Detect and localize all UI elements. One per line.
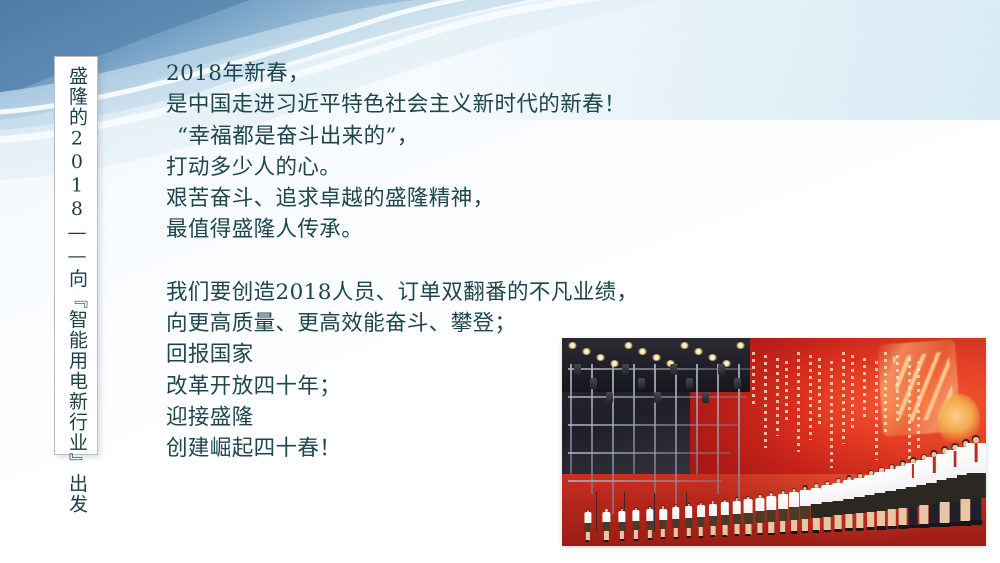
scaffold-beam bbox=[568, 480, 722, 482]
backdrop-verse-column bbox=[764, 355, 767, 448]
event-photo bbox=[562, 338, 986, 546]
choir-shoes bbox=[647, 538, 652, 540]
stage-light-fixture bbox=[606, 392, 613, 403]
choir-member bbox=[721, 499, 729, 537]
vertical-title-plaque: 盛隆的2018——向『智能用电新行业』出发 bbox=[54, 56, 98, 455]
choir-shoes bbox=[780, 532, 786, 534]
stage-light-fixture bbox=[654, 392, 661, 403]
choir-skirt bbox=[709, 516, 717, 526]
choir-shoes bbox=[824, 530, 832, 533]
choir-member bbox=[744, 496, 753, 536]
choir-shoes bbox=[791, 531, 798, 534]
body-line: 艰苦奋斗、追求卓越的盛隆精神， bbox=[166, 183, 726, 214]
body-line: 是中国走进习近平特色社会主义新时代的新春！ bbox=[166, 89, 726, 120]
choir-white-shirt bbox=[789, 492, 799, 507]
choir-skirt bbox=[721, 515, 729, 525]
choir-member bbox=[811, 483, 822, 533]
choir-shoes bbox=[969, 520, 982, 525]
choir-trouser-legs bbox=[970, 498, 982, 523]
choir-white-shirt bbox=[732, 501, 741, 514]
choir-white-shirt bbox=[822, 485, 833, 502]
choir-shoes bbox=[722, 535, 727, 537]
choir-skirt bbox=[756, 511, 765, 522]
choir-skirt bbox=[778, 509, 787, 521]
choir-shoes bbox=[673, 537, 678, 539]
microphone-stand bbox=[654, 492, 655, 532]
choir-member bbox=[778, 490, 788, 535]
ceiling-lamp bbox=[652, 354, 661, 361]
choir-member bbox=[767, 492, 776, 535]
choir-white-shirt bbox=[584, 512, 591, 523]
choir-legs bbox=[813, 518, 819, 532]
choir-necktie bbox=[912, 464, 914, 478]
presentation-slide: 盛隆的2018——向『智能用电新行业』出发 2018年新春， 是中国走进习近平特… bbox=[0, 0, 1000, 563]
choir-white-shirt bbox=[685, 506, 693, 518]
choir-shoes bbox=[619, 539, 624, 541]
choir-skirt bbox=[672, 519, 679, 528]
ceiling-lamp bbox=[638, 348, 647, 355]
choir-skirt bbox=[646, 521, 653, 530]
scaffold-pole bbox=[696, 364, 698, 474]
choir-shoes bbox=[834, 529, 842, 532]
choir-legs bbox=[824, 517, 831, 531]
choir-skirt bbox=[811, 504, 821, 518]
choir-member bbox=[618, 508, 625, 541]
choir-skirt bbox=[633, 521, 640, 530]
scaffold-pole bbox=[612, 364, 614, 514]
scaffold-pole bbox=[675, 364, 677, 514]
choir-white-shirt bbox=[778, 494, 788, 509]
ceiling-lamp bbox=[694, 348, 703, 355]
scaffold-beam bbox=[568, 368, 754, 370]
choir-white-shirt bbox=[633, 510, 640, 521]
body-line: 2018年新春， bbox=[166, 58, 726, 89]
paragraph-1: 2018年新春， 是中国走进习近平特色社会主义新时代的新春！ “幸福都是奋斗出来… bbox=[166, 58, 726, 246]
choir-white-shirt bbox=[659, 509, 666, 520]
backdrop-verse-column bbox=[818, 358, 821, 428]
stage-light-fixture bbox=[638, 378, 645, 389]
scaffold-pole bbox=[633, 364, 635, 474]
choir-skirt bbox=[603, 522, 610, 531]
body-line: “幸福都是奋斗出来的”， bbox=[166, 121, 726, 152]
stage-light-fixture bbox=[670, 364, 677, 375]
choir-white-shirt bbox=[744, 499, 753, 512]
choir-skirt bbox=[744, 513, 752, 524]
choir-white-shirt bbox=[755, 498, 764, 512]
choir-trousers bbox=[967, 473, 986, 498]
choir-shoes bbox=[634, 539, 639, 541]
choir-white-shirt bbox=[721, 502, 729, 515]
choir-shoes bbox=[604, 540, 609, 542]
stage-light-fixture bbox=[718, 364, 725, 375]
choir-shoes bbox=[698, 536, 703, 538]
ceiling-lamp bbox=[568, 342, 577, 349]
scaffold-pole bbox=[717, 364, 719, 494]
choir-skirt bbox=[733, 514, 741, 525]
choir-skirt bbox=[800, 506, 810, 519]
choir-member bbox=[659, 505, 666, 539]
choir-white-shirt bbox=[811, 488, 822, 505]
backdrop-verse-column bbox=[875, 361, 878, 460]
scaffold-beam bbox=[568, 424, 738, 426]
choir-shoes bbox=[686, 536, 691, 538]
choir-member bbox=[603, 509, 610, 542]
choir-white-shirt bbox=[709, 504, 717, 516]
body-line: 我们要创造2018人员、订单双翻番的不凡业绩， bbox=[166, 277, 726, 308]
choir-shoes bbox=[856, 528, 864, 531]
choir-shoes bbox=[813, 530, 820, 533]
choir-shoes bbox=[734, 534, 740, 536]
choir-shoes bbox=[585, 540, 590, 542]
choir-white-shirt bbox=[618, 511, 625, 522]
choir-shoes bbox=[710, 535, 715, 537]
body-line: 最值得盛隆人传承。 bbox=[166, 214, 726, 245]
choir-member bbox=[800, 485, 811, 533]
microphone-stand bbox=[596, 492, 597, 532]
stage-light-fixture bbox=[574, 364, 581, 375]
choir-skirt bbox=[789, 507, 799, 520]
choir-skirt bbox=[685, 518, 692, 528]
choir-legs bbox=[835, 515, 842, 530]
choir-shoes bbox=[768, 533, 774, 535]
ceiling-lamp bbox=[610, 360, 619, 367]
backdrop-verse-column bbox=[785, 361, 788, 424]
choir-member bbox=[697, 502, 705, 538]
backdrop-calligraphy-strokes bbox=[893, 351, 956, 422]
choir-skirt bbox=[767, 510, 776, 522]
choir-member bbox=[789, 488, 799, 535]
backdrop-verse-column bbox=[842, 352, 845, 444]
choir-skirt bbox=[660, 520, 667, 529]
choir-member bbox=[709, 501, 717, 538]
choir-legs bbox=[846, 514, 853, 529]
choir-skirt bbox=[584, 523, 591, 532]
scaffold-pole bbox=[570, 364, 572, 474]
choir-member bbox=[633, 507, 640, 540]
backdrop-verse-column bbox=[908, 358, 911, 464]
scaffold-beam bbox=[568, 452, 730, 454]
choir-white-shirt bbox=[697, 505, 705, 517]
stage-light-fixture bbox=[622, 364, 629, 375]
stage-light-fixture bbox=[734, 378, 741, 389]
choir-white-shirt bbox=[646, 509, 653, 520]
stage-light-fixture bbox=[686, 378, 693, 389]
choir-skirt bbox=[822, 502, 833, 516]
stage-light-fixture bbox=[702, 392, 709, 403]
backdrop-verse-column bbox=[851, 355, 854, 432]
ceiling-lamp bbox=[736, 342, 745, 349]
scaffold-pole bbox=[654, 364, 656, 494]
backdrop-verse-column bbox=[809, 355, 812, 440]
backdrop-verse-column bbox=[896, 355, 899, 424]
choir-shoes bbox=[845, 528, 853, 531]
choir-white-shirt bbox=[603, 512, 610, 523]
ceiling-lamp bbox=[708, 354, 717, 361]
choir-white-shirt bbox=[800, 490, 811, 506]
ceiling-lamp bbox=[582, 348, 591, 355]
choir-member bbox=[672, 504, 680, 539]
choir-necktie bbox=[975, 443, 978, 461]
ceiling-lamp bbox=[596, 354, 605, 361]
body-line: 打动多少人的心。 bbox=[166, 152, 726, 183]
backdrop-verse-column bbox=[884, 352, 887, 436]
vertical-title-text: 盛隆的2018——向『智能用电新行业』出发 bbox=[64, 66, 88, 515]
backdrop-verse-column bbox=[776, 358, 779, 436]
choir-legs bbox=[856, 513, 863, 529]
choir-member bbox=[733, 497, 742, 536]
choir-legs bbox=[802, 519, 808, 532]
body-line: 向更高质量、更高效能奋斗、攀登； bbox=[166, 308, 726, 339]
choir-shoes bbox=[802, 531, 809, 534]
choir-member bbox=[584, 509, 591, 542]
choir-legs bbox=[867, 512, 875, 529]
ceiling-lamp bbox=[624, 342, 633, 349]
choir-member bbox=[685, 503, 693, 538]
choir-member bbox=[755, 494, 764, 536]
backdrop-verse-column bbox=[830, 361, 833, 468]
choir-shoes bbox=[661, 537, 666, 539]
choir-member bbox=[966, 435, 986, 526]
backdrop-verse-column bbox=[797, 352, 800, 452]
choir-skirt bbox=[697, 517, 704, 527]
choir-skirt bbox=[618, 522, 625, 531]
choir-shoes bbox=[746, 534, 752, 536]
stage-light-fixture bbox=[590, 378, 597, 389]
backdrop-verse-column bbox=[917, 361, 920, 452]
ceiling-lamp bbox=[680, 342, 689, 349]
choir-white-shirt bbox=[672, 507, 680, 518]
choir-shoes bbox=[757, 533, 763, 535]
backdrop-verse-column bbox=[863, 358, 866, 420]
choir-member bbox=[822, 481, 833, 533]
backdrop-verse-column bbox=[752, 352, 755, 408]
choir-white-shirt bbox=[767, 496, 776, 510]
choir-member bbox=[646, 506, 653, 540]
